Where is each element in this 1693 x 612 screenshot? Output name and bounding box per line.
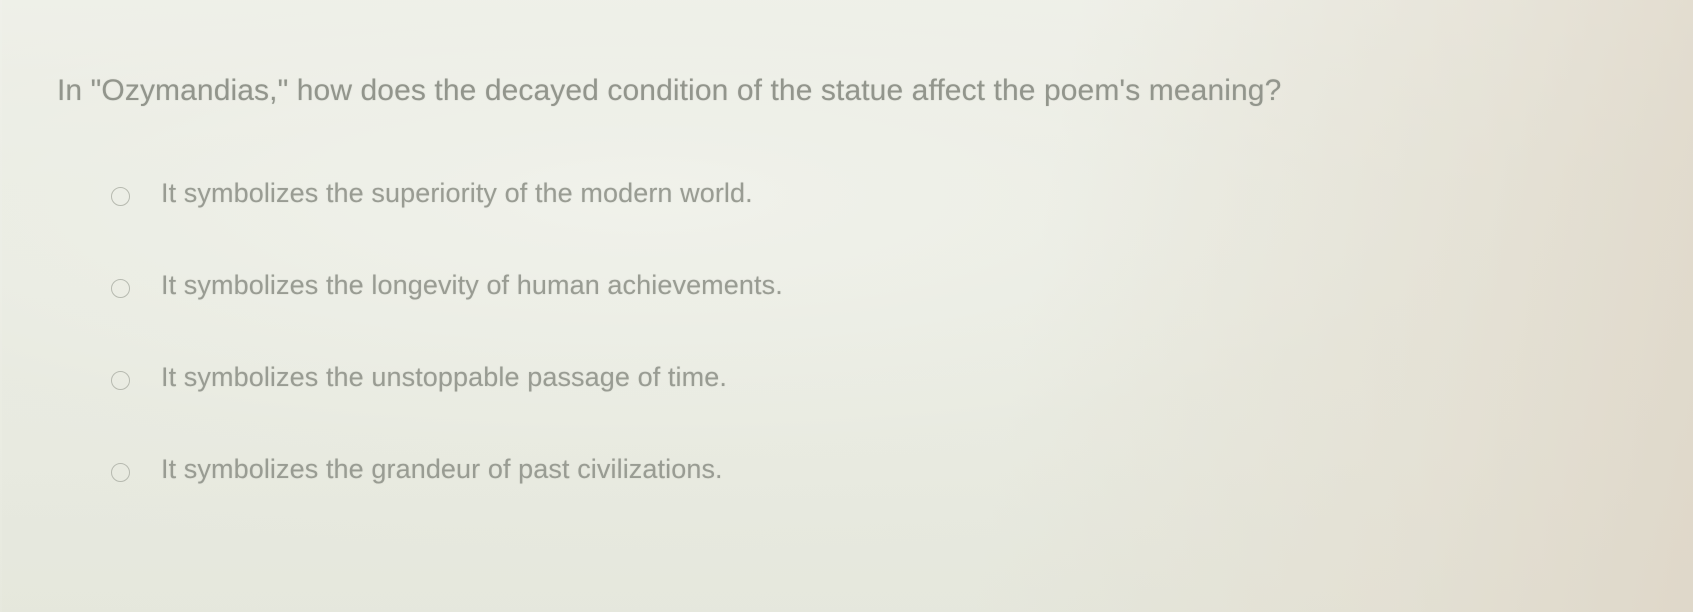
answer-option-d[interactable]: It symbolizes the grandeur of past civil… — [0, 452, 1693, 544]
answer-option-a[interactable]: It symbolizes the superiority of the mod… — [0, 176, 1693, 268]
answer-option-b-label: It symbolizes the longevity of human ach… — [161, 268, 783, 302]
question-prompt: In "Ozymandias," how does the decayed co… — [57, 72, 1557, 110]
answer-option-b[interactable]: It symbolizes the longevity of human ach… — [0, 268, 1693, 360]
answer-option-d-label: It symbolizes the grandeur of past civil… — [161, 452, 723, 486]
radio-unselected-icon[interactable] — [111, 463, 130, 482]
radio-unselected-icon[interactable] — [111, 187, 130, 206]
answer-option-a-label: It symbolizes the superiority of the mod… — [161, 176, 753, 210]
quiz-question-page: In "Ozymandias," how does the decayed co… — [0, 0, 1693, 612]
radio-unselected-icon[interactable] — [111, 371, 130, 390]
radio-unselected-icon[interactable] — [111, 279, 130, 298]
answer-option-c-label: It symbolizes the unstoppable passage of… — [161, 360, 727, 394]
answer-options-list: It symbolizes the superiority of the mod… — [0, 176, 1693, 544]
answer-option-c[interactable]: It symbolizes the unstoppable passage of… — [0, 360, 1693, 452]
